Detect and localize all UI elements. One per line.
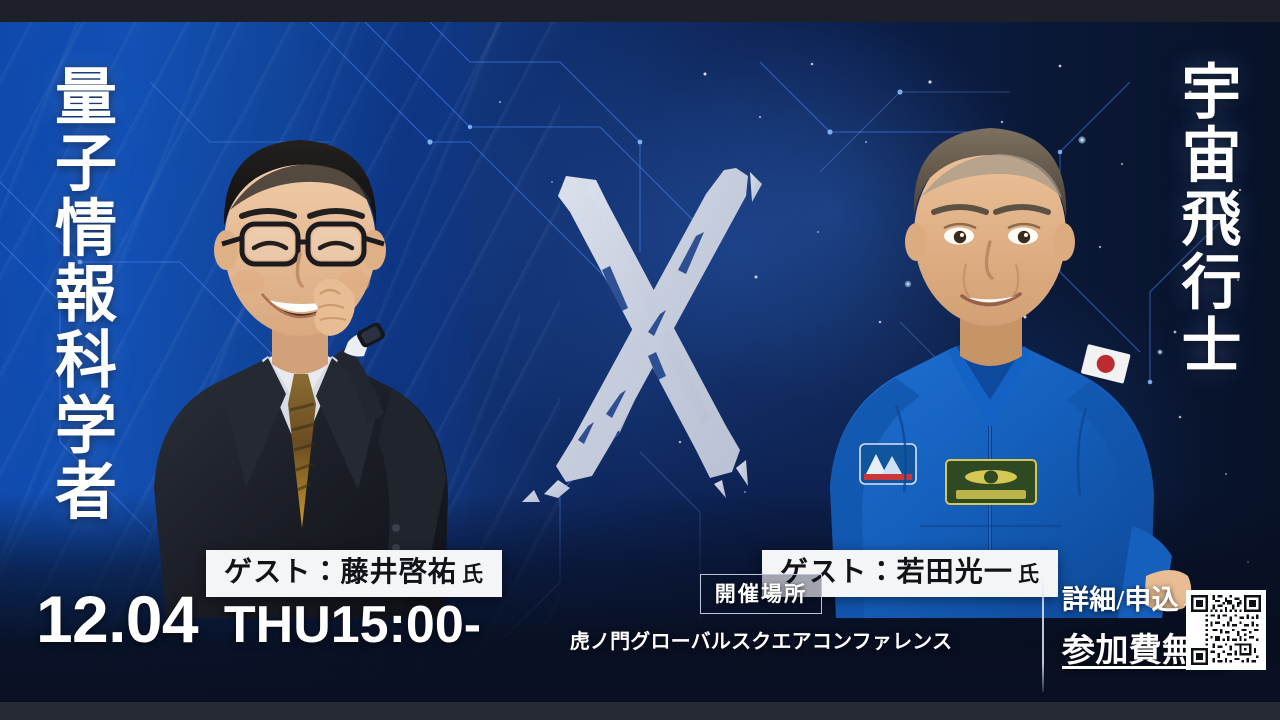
event-date: 12.04 bbox=[36, 586, 198, 652]
vertical-divider bbox=[1042, 574, 1044, 692]
bottom-info-bar: 12.04 THU15:00- 開催場所 虎ノ門グローバルスクエアコンファレンス… bbox=[0, 568, 1280, 702]
cta-block[interactable]: 詳細/申込→ 参加費無料 bbox=[1062, 578, 1180, 671]
x-brush-mark bbox=[500, 150, 800, 510]
venue-name: 虎ノ門グローバルスクエアコンファレンス bbox=[566, 625, 956, 654]
astronaut-portrait bbox=[800, 56, 1200, 618]
event-banner: 量子情報科学者 宇宙飛行士 ゲスト：藤井啓祐氏 ゲスト：若田光一氏 12.04 … bbox=[0, 0, 1280, 720]
letterbox-bottom bbox=[0, 702, 1280, 720]
cta-free-admission[interactable]: 参加費無料 bbox=[1062, 623, 1180, 671]
cta-details-link[interactable]: 詳細/申込→ bbox=[1062, 578, 1180, 617]
qr-code[interactable] bbox=[1186, 590, 1266, 670]
venue-label-tag: 開催場所 bbox=[700, 574, 822, 614]
artwork-canvas: 量子情報科学者 宇宙飛行士 ゲスト：藤井啓祐氏 ゲスト：若田光一氏 12.04 … bbox=[0, 22, 1280, 702]
headline-right-astronaut: 宇宙飛行士 bbox=[1163, 60, 1250, 378]
event-date-block: 12.04 THU15:00- bbox=[36, 586, 481, 652]
venue-block: 開催場所 虎ノ門グローバルスクエアコンファレンス bbox=[566, 574, 956, 654]
letterbox-top bbox=[0, 0, 1280, 22]
event-time: THU15:00- bbox=[224, 599, 481, 651]
qr-code-image bbox=[1191, 595, 1261, 665]
quantum-scientist-portrait bbox=[96, 58, 496, 618]
headline-left-quantum-scientist: 量子情報科学者 bbox=[34, 64, 124, 524]
